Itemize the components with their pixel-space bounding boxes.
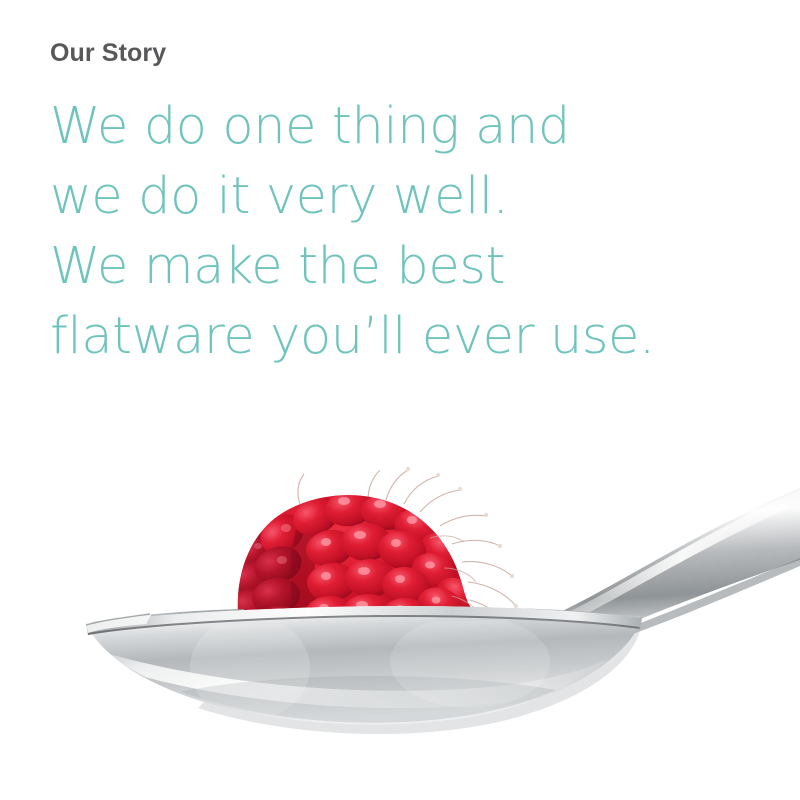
headline-line-4: flatware you’ll ever use. <box>50 302 750 372</box>
story-text-block: Our Story We do one thing and we do it v… <box>50 38 750 372</box>
headline: We do one thing and we do it very well. … <box>50 92 750 372</box>
page-canvas: Our Story We do one thing and we do it v… <box>0 0 800 800</box>
headline-line-1: We do one thing and <box>50 92 750 162</box>
spoon-bowl <box>86 606 642 764</box>
photo-illustration <box>0 400 800 800</box>
raspberry-on-spoon-photo <box>0 400 800 800</box>
page-title: Our Story <box>50 38 750 68</box>
headline-line-2: we do it very well. <box>50 162 750 232</box>
headline-line-3: We make the best <box>50 232 750 302</box>
